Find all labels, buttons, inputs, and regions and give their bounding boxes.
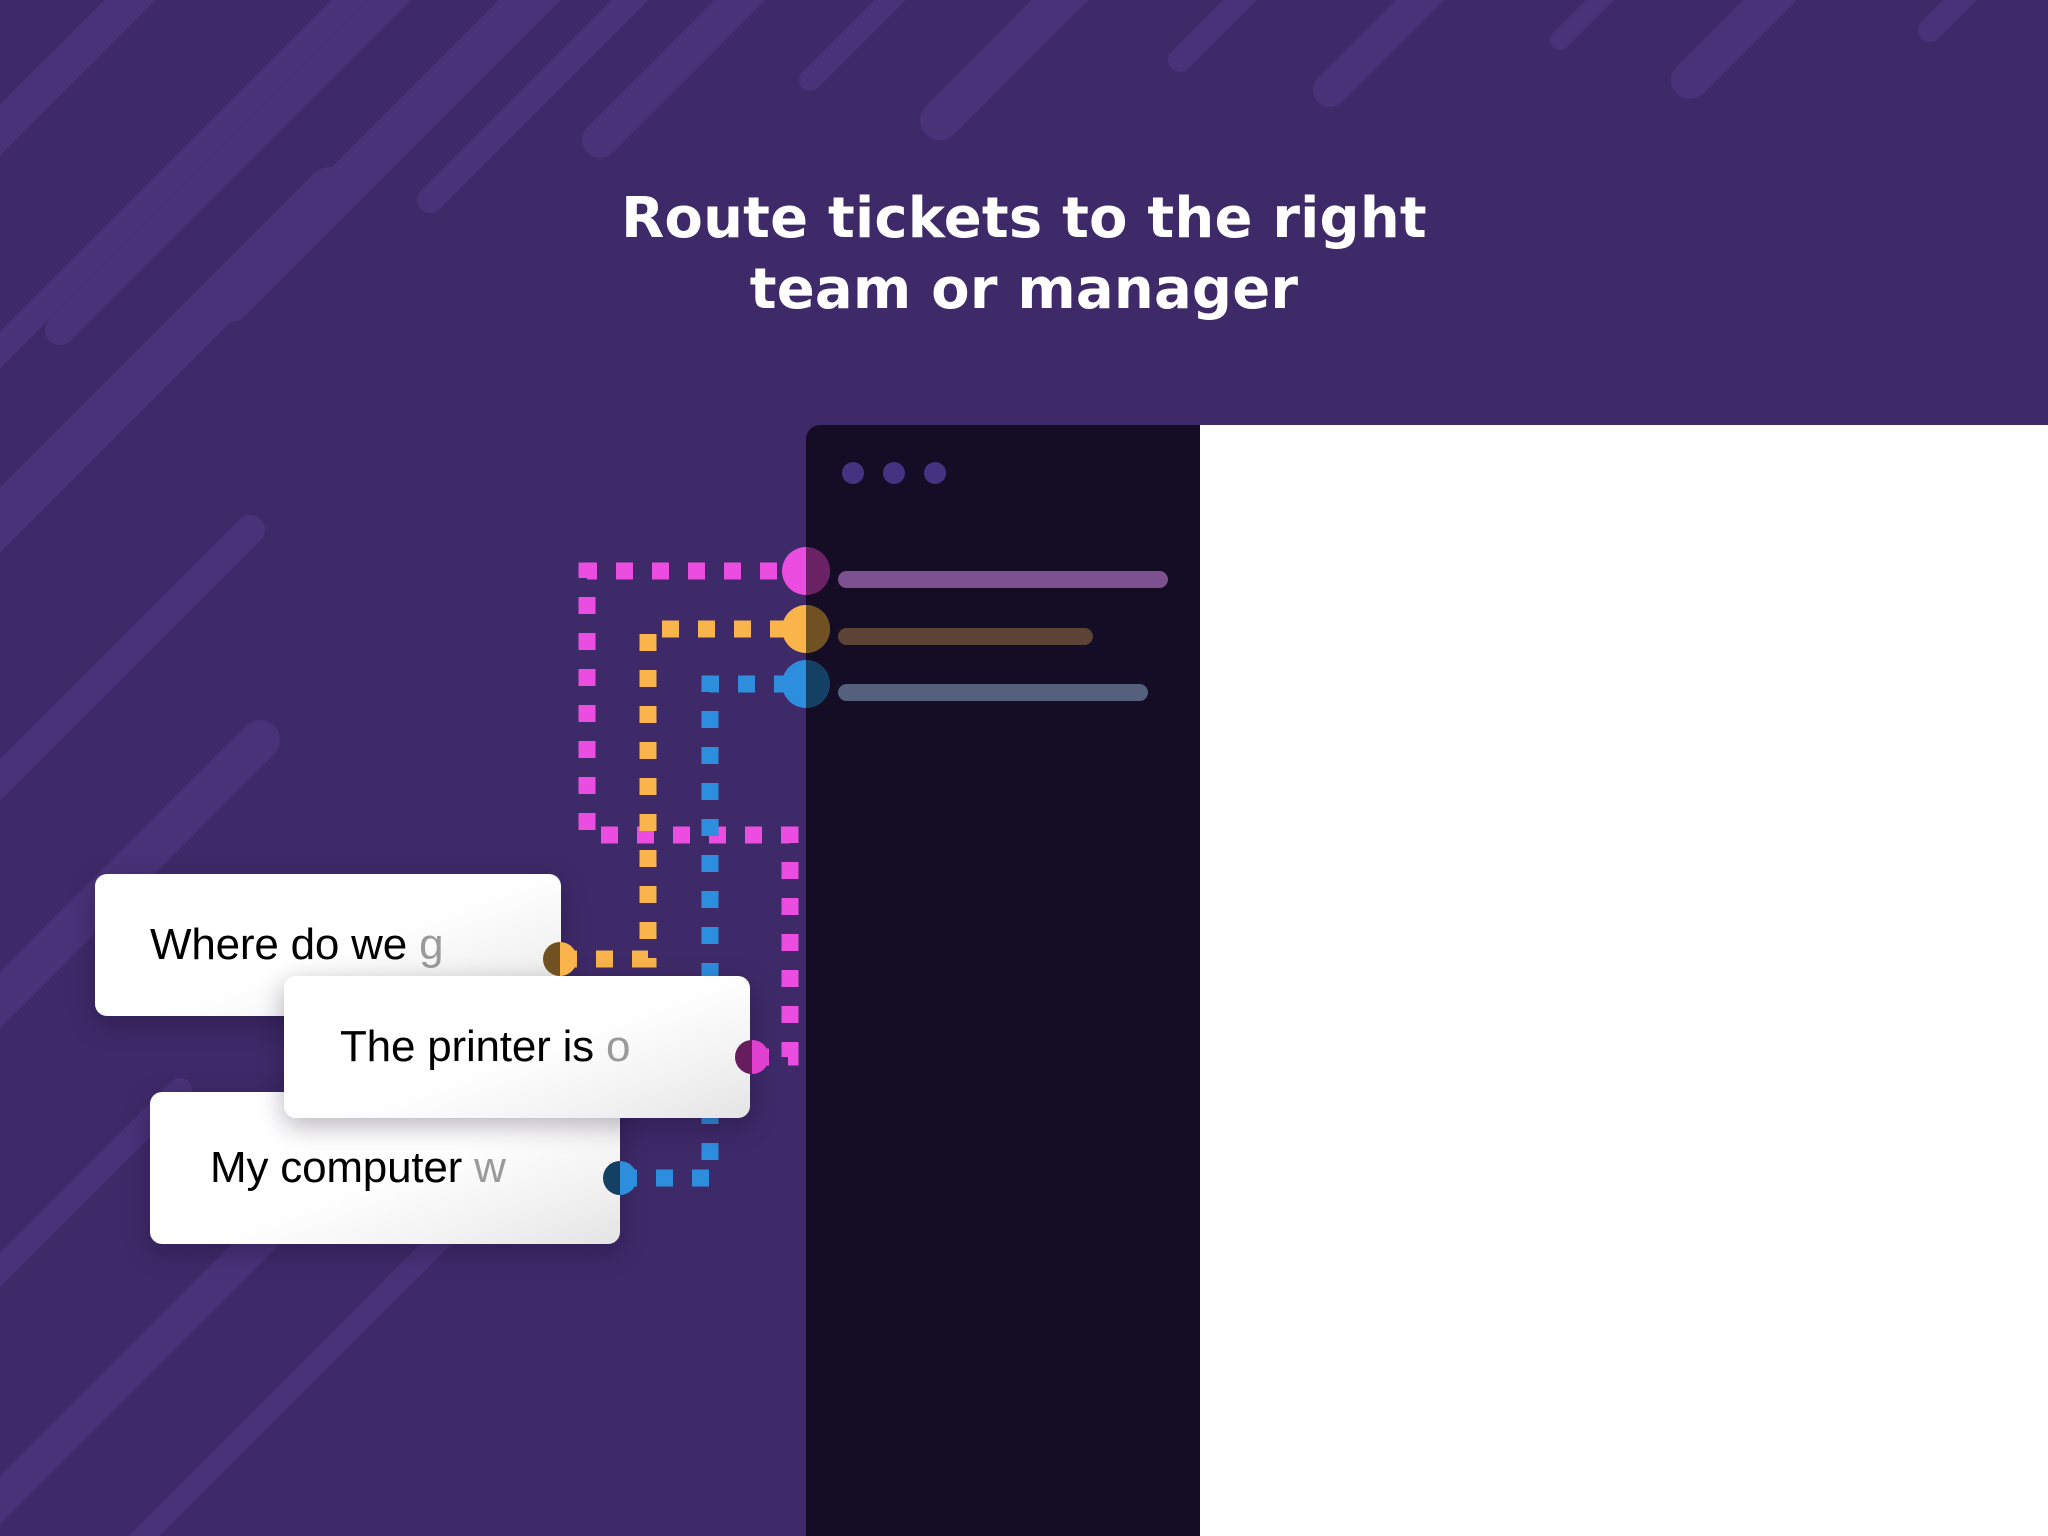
queue-row-blue-bar: [838, 684, 1148, 701]
illustration-stage: Where do we g My computer w The printer …: [0, 0, 2048, 1536]
ticket-where-connector-dot: [543, 942, 577, 976]
window-dot-3-icon: [924, 462, 946, 484]
ticket-card-computer-text: My computer w: [150, 1143, 506, 1193]
ticket-printer-visible: The printer is: [340, 1022, 606, 1071]
ticket-computer-fade: w: [474, 1143, 506, 1192]
page-title: Route tickets to the right team or manag…: [0, 183, 2048, 326]
white-content-panel: [1200, 425, 2048, 1536]
queue-row-magenta-bar: [838, 571, 1168, 588]
ticket-where-visible: Where do we: [150, 920, 419, 969]
page-title-line-1: Route tickets to the right: [0, 183, 2048, 255]
ticket-printer-fade: o: [606, 1022, 630, 1071]
window-traffic-lights: [842, 462, 946, 484]
ticket-card-printer[interactable]: The printer is o: [284, 976, 750, 1118]
window-dot-2-icon: [883, 462, 905, 484]
queue-row-orange-bar: [838, 628, 1093, 645]
queue-row-magenta-connector-dot: [782, 547, 830, 595]
page-title-line-2: team or manager: [0, 254, 2048, 326]
ticket-where-fade: g: [419, 920, 443, 969]
ticket-computer-visible: My computer: [210, 1143, 474, 1192]
ticket-card-printer-text: The printer is o: [284, 1022, 630, 1072]
queue-row-blue-connector-dot: [782, 660, 830, 708]
ticket-card-where-text: Where do we g: [95, 920, 443, 970]
app-window: [806, 425, 1200, 1536]
queue-row-orange-connector-dot: [782, 605, 830, 653]
ticket-printer-connector-dot: [735, 1040, 769, 1074]
ticket-computer-connector-dot: [603, 1161, 637, 1195]
window-dot-1-icon: [842, 462, 864, 484]
